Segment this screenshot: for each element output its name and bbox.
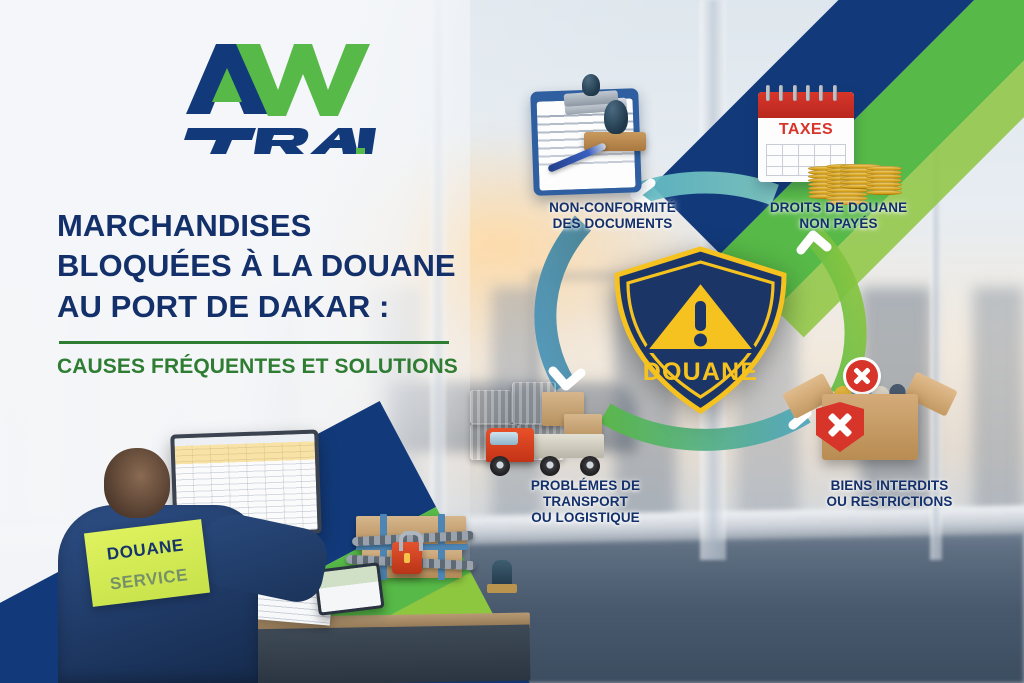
officer-hi-vis-vest: DOUANE SERVICE [84,519,210,607]
stamp-handle [604,100,628,134]
desk-stamp-icon [492,560,512,586]
cycle-label-non-conformite: NON-CONFORMITÉ DES DOCUMENTS [505,200,720,232]
shield-label: DOUANE [643,358,759,386]
stamp-secondary-handle [582,74,600,96]
truck-windshield [490,432,518,445]
calendar-word: TAXES [758,121,854,139]
no-entry-sign-icon [846,360,878,392]
customs-officer-head [104,448,170,518]
coin-stack [866,167,902,195]
taxes-calendar-coins-icon: TAXES [752,78,907,203]
truck-wheel [490,456,510,476]
cycle-label-droits-douane: DROITS DE DOUANE NON PAYÉS [726,200,951,232]
padlock-icon [392,542,422,574]
truck-bed [532,434,604,458]
poster-canvas: MARCHANDISES BLOQUÉES À LA DOUANE AU POR… [0,0,1024,683]
shipping-container [470,390,512,424]
desk-front-panel [240,624,531,683]
truck-wheel [580,456,600,476]
headline-line-1: MARCHANDISES [57,208,311,243]
headline-line-3: AU PORT DE DAKAR : [57,289,389,324]
prohibited-box-icon [798,358,963,476]
clipboard-document-stamp-icon [520,72,675,197]
vest-label-faded: SERVICE [89,563,209,597]
cycle-label-biens-interdits: BIENS INTERDITS OU RESTRICTIONS [782,478,997,510]
douane-shield-badge: DOUANE [608,245,793,415]
truck-wheel [540,456,560,476]
page-title: MARCHANDISES BLOQUÉES À LA DOUANE AU POR… [57,206,497,327]
calendar-rings [764,85,848,101]
cycle-label-transport: PROBLÉMES DE TRANSPORT OU LOGISTIQUE [478,478,693,526]
vest-label: DOUANE [86,533,206,567]
aw-transit-logo [132,36,382,154]
headline-line-2: BLOQUÉES À LA DOUANE [57,248,456,283]
headline-subtitle: CAUSES FRÉQUENTES ET SOLUTIONS [57,355,497,379]
headline-divider [59,341,449,344]
headline-block: MARCHANDISES BLOQUÉES À LA DOUANE AU POR… [57,206,497,379]
